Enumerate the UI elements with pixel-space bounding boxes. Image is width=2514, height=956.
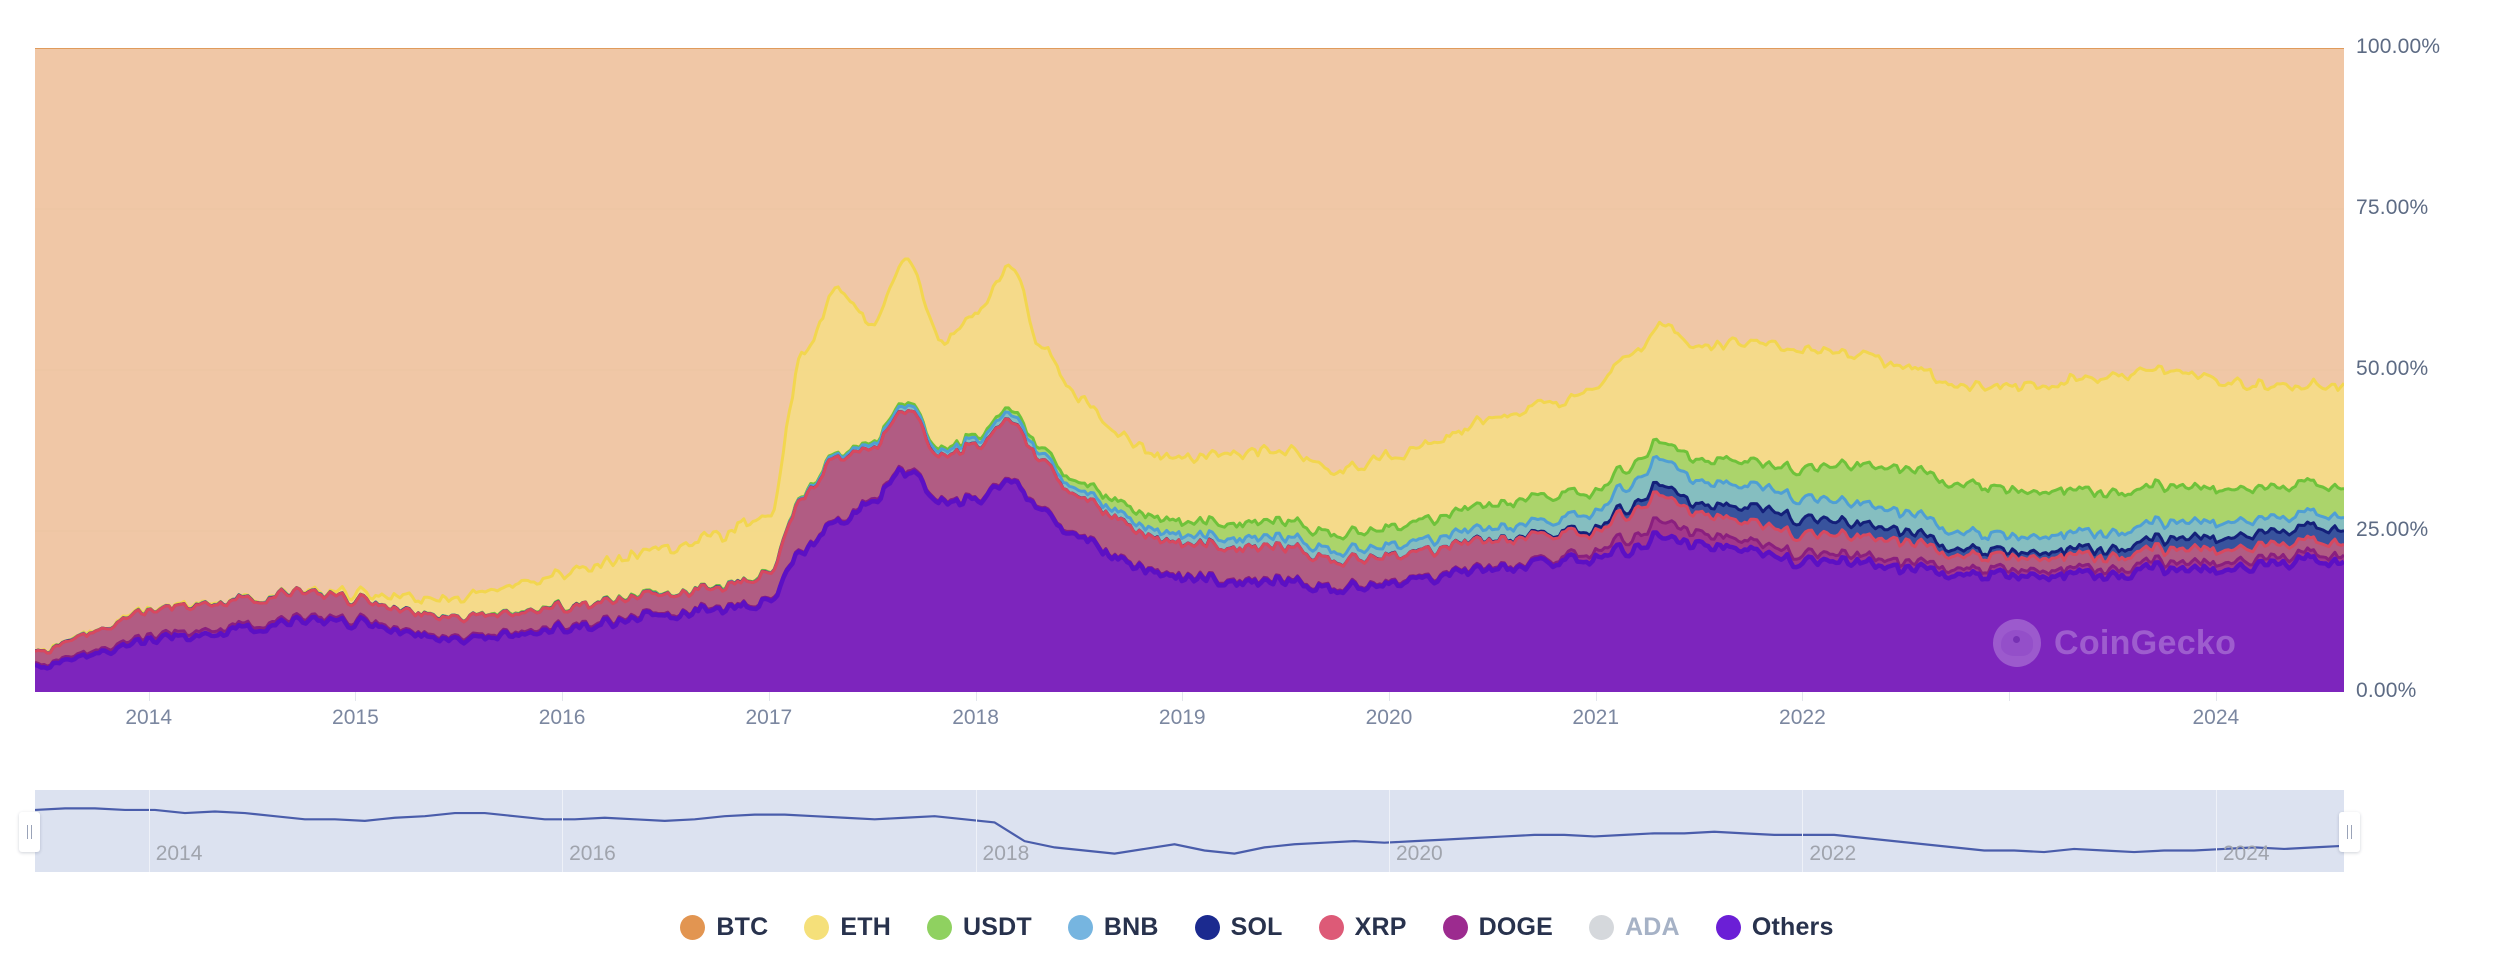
navigator-separator: [976, 790, 977, 872]
legend-swatch-icon: [1716, 915, 1741, 940]
legend-swatch-icon: [1443, 915, 1468, 940]
x-axis-tick-label: 2015: [332, 706, 379, 730]
legend-item-label: DOGE: [1479, 913, 1553, 942]
crypto-dominance-chart: CoinGecko 100.00%75.00%50.00%25.00%0.00%…: [0, 0, 2514, 956]
legend-item-label: Others: [1752, 913, 1834, 942]
x-axis-tick-label: 2016: [539, 706, 586, 730]
x-axis-tick-mark: [1182, 692, 1183, 701]
grip-line: [2351, 825, 2352, 839]
plot-area[interactable]: [35, 48, 2344, 692]
legend: BTCETHUSDTBNBSOLXRPDOGEADAOthers: [0, 898, 2514, 956]
range-navigator[interactable]: 201420162018202020222024: [35, 790, 2344, 872]
y-axis: 100.00%75.00%50.00%25.00%0.00%: [2356, 0, 2514, 740]
navigator-separator: [1802, 790, 1803, 872]
navigator-separator: [562, 790, 563, 872]
x-axis-tick-mark: [1389, 692, 1390, 701]
legend-item-label: ETH: [840, 913, 891, 942]
legend-item-xrp[interactable]: XRP: [1319, 913, 1407, 942]
y-axis-tick-label: 50.00%: [2356, 357, 2428, 381]
x-axis-tick-label: 2022: [1779, 706, 1826, 730]
x-axis-tick-mark: [2216, 692, 2217, 701]
navigator-year-label: 2018: [983, 842, 1030, 866]
range-handle-right-icon[interactable]: [2339, 812, 2360, 852]
x-axis-tick-label: 2017: [745, 706, 792, 730]
stacked-area-svg: [35, 48, 2344, 692]
x-axis-tick-mark: [355, 692, 356, 701]
legend-item-btc[interactable]: BTC: [680, 913, 768, 942]
navigator-line: [35, 808, 2344, 853]
x-axis-tick-mark: [769, 692, 770, 701]
legend-item-doge[interactable]: DOGE: [1443, 913, 1553, 942]
x-axis-tick-mark: [2009, 692, 2010, 701]
x-axis-tick-mark: [562, 692, 563, 701]
grip-line: [31, 825, 32, 839]
legend-item-label: BNB: [1104, 913, 1159, 942]
x-axis-tick-label: 2019: [1159, 706, 1206, 730]
legend-item-usdt[interactable]: USDT: [927, 913, 1032, 942]
x-axis: 2014201520162017201820192020202120222024: [35, 692, 2344, 752]
navigator-year-label: 2022: [1809, 842, 1856, 866]
legend-swatch-icon: [1319, 915, 1344, 940]
navigator-separator: [1389, 790, 1390, 872]
x-axis-tick-mark: [149, 692, 150, 701]
legend-item-label: SOL: [1231, 913, 1283, 942]
navigator-sparkline: [35, 790, 2344, 872]
navigator-year-label: 2016: [569, 842, 616, 866]
navigator-year-label: 2024: [2223, 842, 2270, 866]
x-axis-tick-mark: [1802, 692, 1803, 701]
x-axis-tick-mark: [1596, 692, 1597, 701]
legend-item-bnb[interactable]: BNB: [1068, 913, 1159, 942]
y-axis-tick-label: 0.00%: [2356, 679, 2417, 703]
legend-item-label: ADA: [1625, 913, 1680, 942]
legend-item-label: BTC: [716, 913, 768, 942]
grip-line: [2347, 825, 2348, 839]
x-axis-tick-label: 2024: [2192, 706, 2239, 730]
navigator-separator: [2216, 790, 2217, 872]
x-axis-tick-label: 2020: [1366, 706, 1413, 730]
legend-swatch-icon: [1589, 915, 1614, 940]
legend-item-others[interactable]: Others: [1716, 913, 1834, 942]
legend-swatch-icon: [680, 915, 705, 940]
y-axis-tick-label: 25.00%: [2356, 518, 2428, 542]
legend-item-label: XRP: [1355, 913, 1407, 942]
y-axis-tick-label: 100.00%: [2356, 35, 2440, 59]
legend-swatch-icon: [1195, 915, 1220, 940]
grip-line: [27, 825, 28, 839]
y-axis-tick-label: 75.00%: [2356, 196, 2428, 220]
x-axis-tick-mark: [976, 692, 977, 701]
legend-item-sol[interactable]: SOL: [1195, 913, 1283, 942]
navigator-year-label: 2014: [156, 842, 203, 866]
x-axis-tick-label: 2014: [125, 706, 172, 730]
legend-swatch-icon: [1068, 915, 1093, 940]
x-axis-tick-label: 2018: [952, 706, 999, 730]
navigator-year-label: 2020: [1396, 842, 1443, 866]
legend-item-label: USDT: [963, 913, 1032, 942]
legend-swatch-icon: [927, 915, 952, 940]
legend-item-eth[interactable]: ETH: [804, 913, 891, 942]
navigator-separator: [149, 790, 150, 872]
legend-swatch-icon: [804, 915, 829, 940]
x-axis-tick-label: 2021: [1572, 706, 1619, 730]
range-handle-left-icon[interactable]: [19, 812, 40, 852]
legend-item-ada[interactable]: ADA: [1589, 913, 1680, 942]
